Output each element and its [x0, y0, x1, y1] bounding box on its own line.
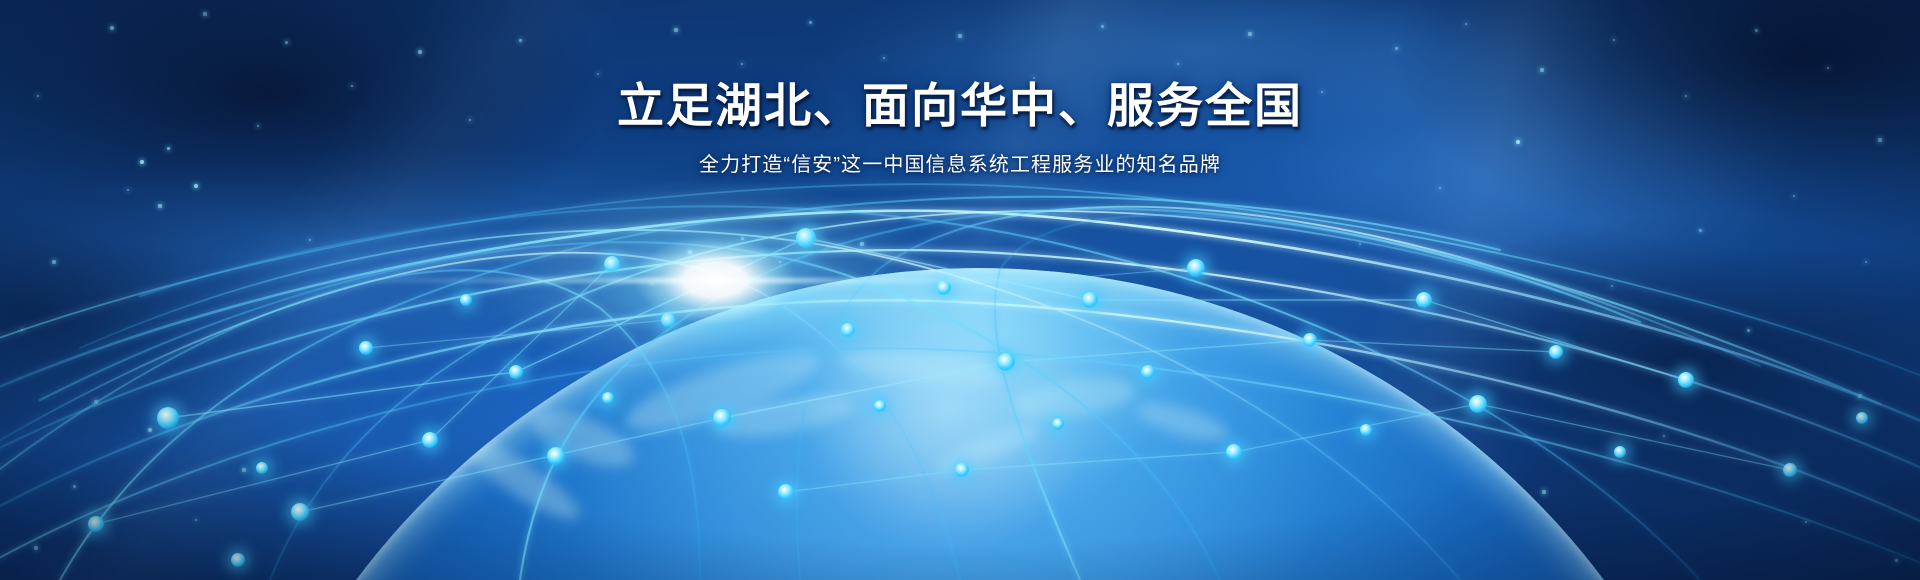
hero-banner: 立足湖北、面向华中、服务全国 全力打造“信安”这一中国信息系统工程服务业的知名品… — [0, 0, 1920, 580]
network-node — [1360, 424, 1372, 436]
banner-copy: 立足湖北、面向华中、服务全国 全力打造“信安”这一中国信息系统工程服务业的知名品… — [0, 78, 1920, 179]
banner-subheadline: 全力打造“信安”这一中国信息系统工程服务业的知名品牌 — [0, 151, 1920, 179]
network-node — [937, 281, 951, 295]
network-node — [1082, 292, 1098, 308]
network-node — [1187, 259, 1205, 277]
network-node — [874, 400, 886, 412]
network-node — [661, 313, 675, 327]
network-node — [1549, 345, 1563, 359]
network-node — [1678, 372, 1694, 388]
network-node — [422, 432, 438, 448]
network-node — [291, 503, 309, 521]
network-node — [796, 228, 816, 248]
network-node — [460, 294, 472, 306]
network-node — [509, 365, 523, 379]
network-node — [955, 463, 969, 477]
network-node — [1052, 418, 1064, 430]
network-node — [547, 447, 565, 465]
light-burst-flare — [335, 278, 1095, 283]
network-node — [604, 256, 620, 272]
network-node — [1303, 333, 1317, 347]
network-node — [359, 341, 373, 355]
network-node — [88, 516, 104, 532]
network-node — [602, 392, 614, 404]
network-node — [713, 409, 731, 427]
network-node — [1856, 412, 1868, 424]
banner-headline: 立足湖北、面向华中、服务全国 — [0, 78, 1920, 133]
network-node — [1614, 446, 1626, 458]
network-node — [1416, 292, 1432, 308]
network-node — [1141, 365, 1155, 379]
network-node — [231, 553, 245, 567]
network-node — [997, 353, 1015, 371]
network-node — [256, 462, 268, 474]
network-node — [841, 323, 855, 337]
network-node — [1469, 395, 1487, 413]
network-node — [157, 407, 179, 429]
network-node — [1783, 463, 1797, 477]
network-node — [1226, 444, 1242, 460]
network-node — [778, 484, 794, 500]
